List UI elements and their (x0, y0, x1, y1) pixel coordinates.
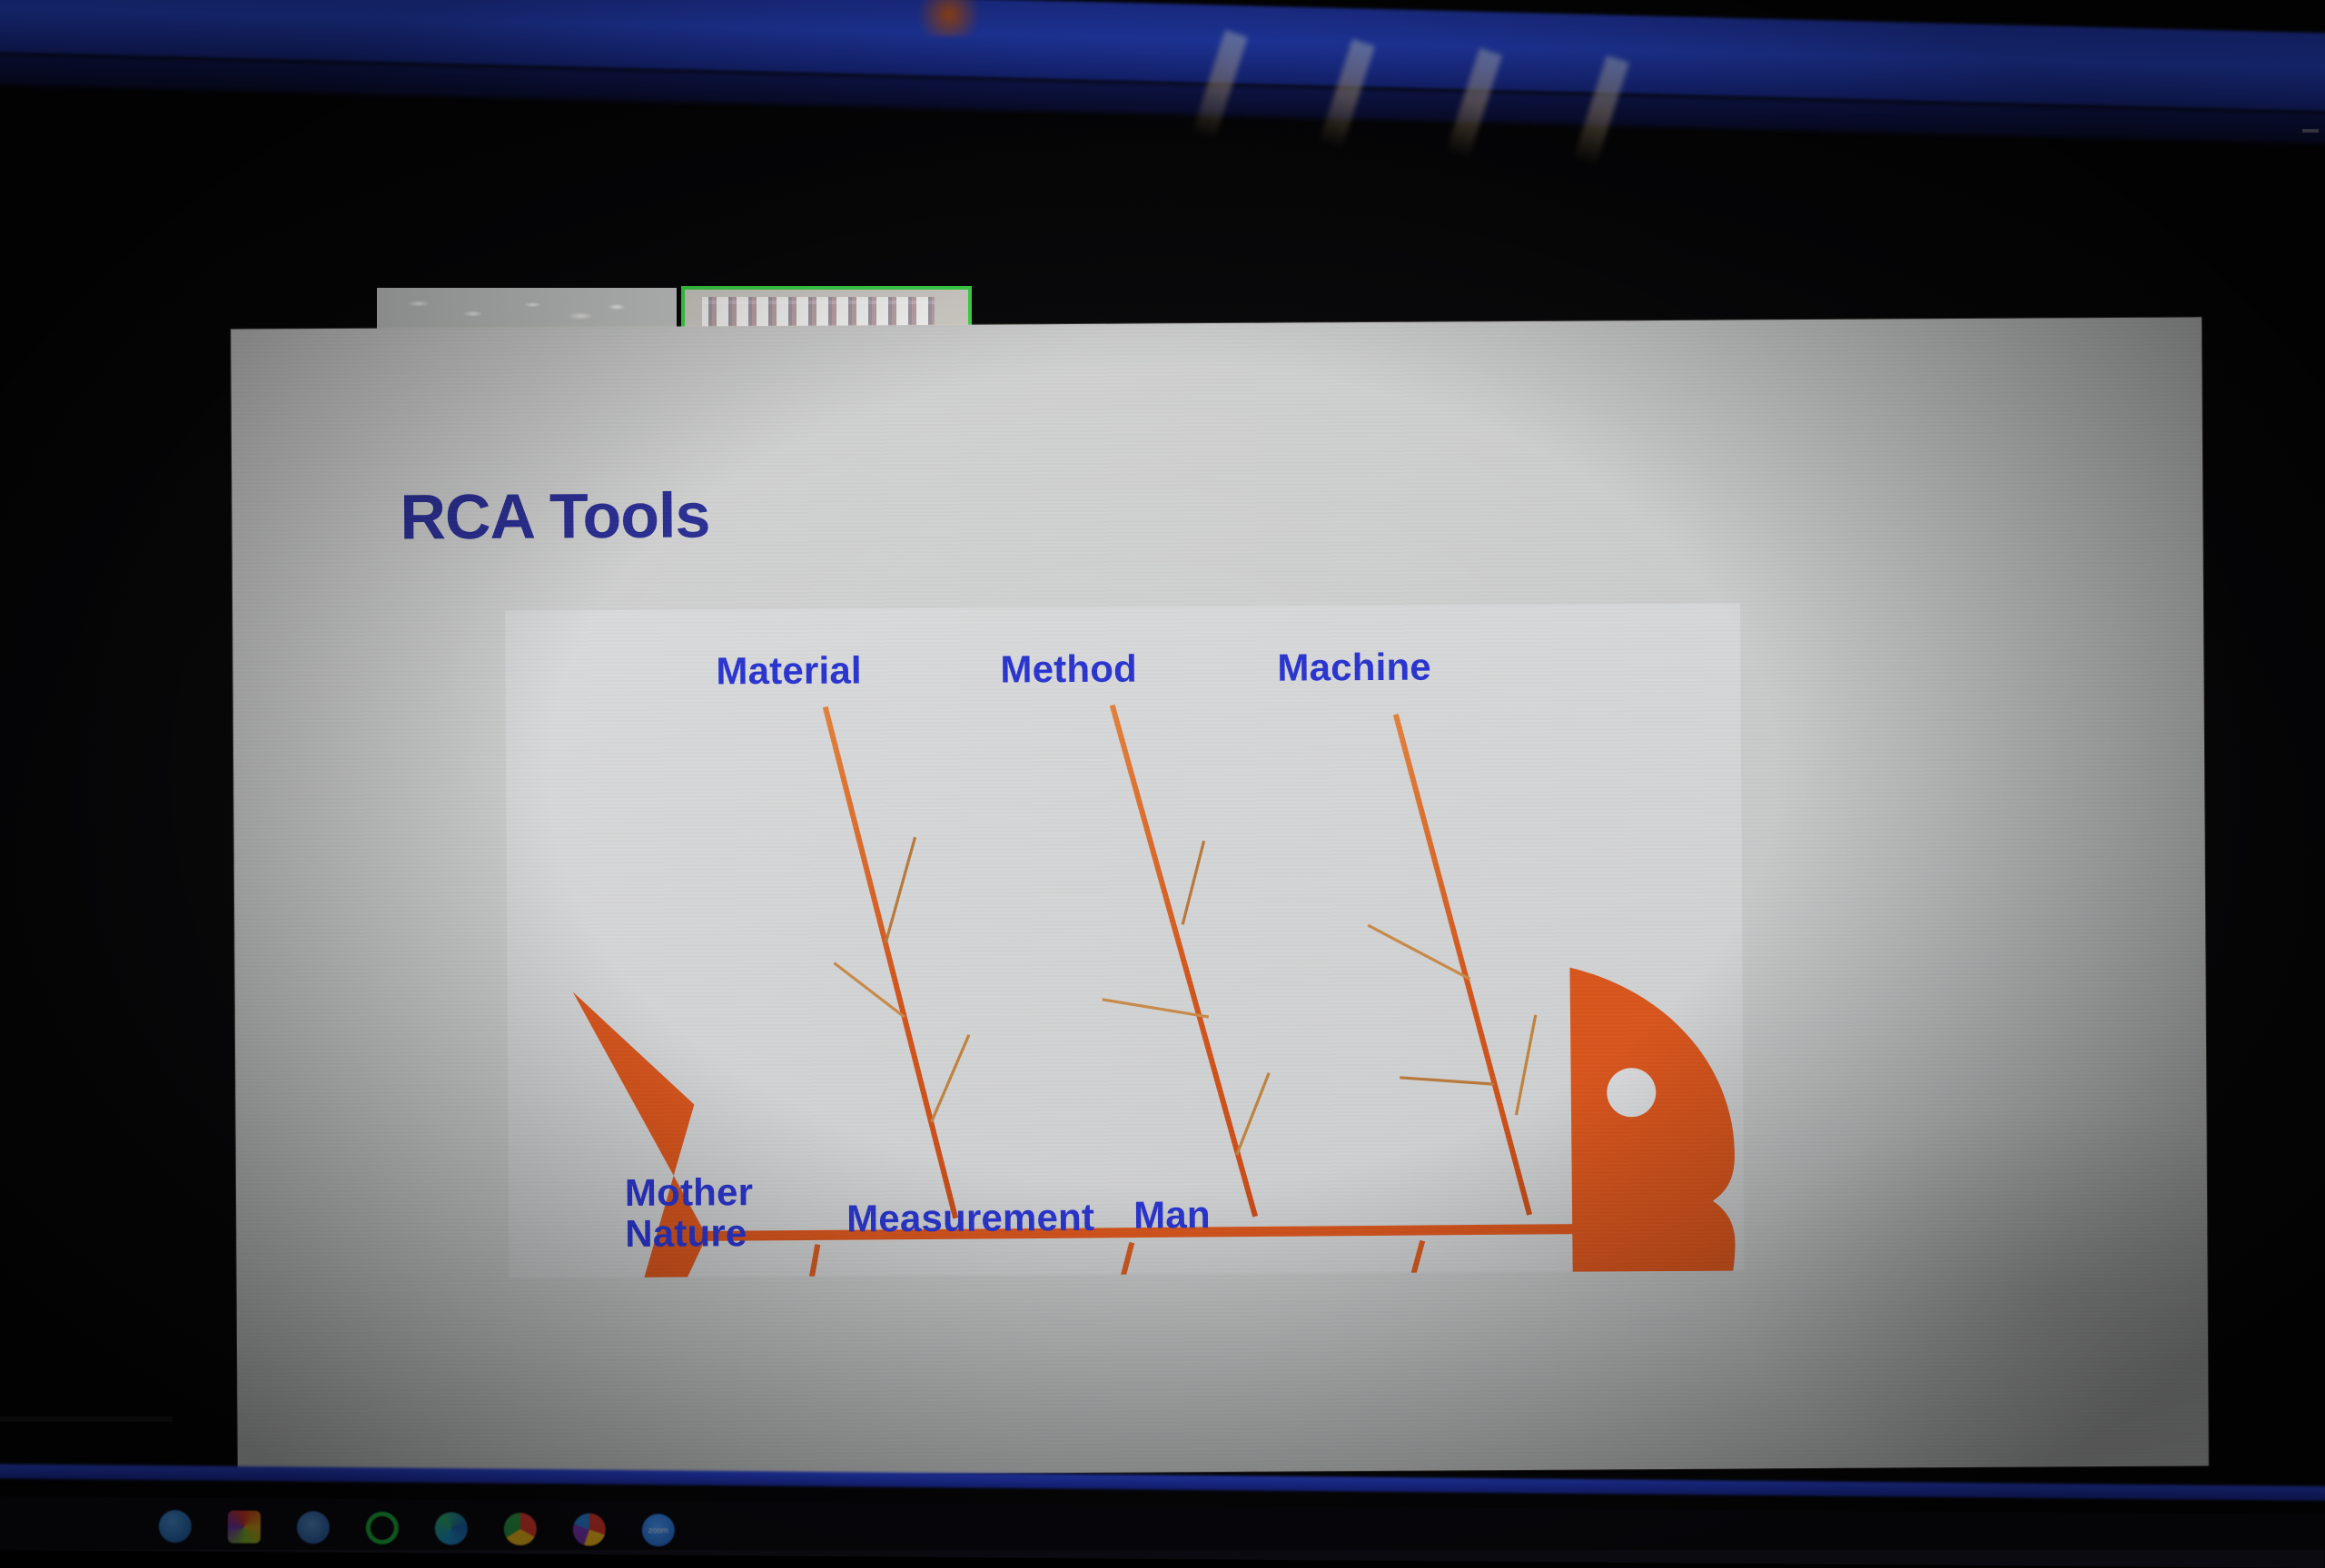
bone-machine-sub-3 (1516, 1015, 1537, 1115)
fish-head (1569, 967, 1736, 1278)
zoom-icon[interactable]: zoom (642, 1514, 675, 1546)
bone-material (826, 706, 955, 1219)
presentation-slide[interactable]: RCA Tools (231, 317, 2209, 1477)
zoom-participant-strip[interactable]: Omar Fawzi Dr. Rami Al-Hadeethi Ibrahem … (0, 136, 2325, 336)
fish-eye (1607, 1068, 1656, 1117)
bone-method-sub-2 (1182, 841, 1205, 924)
bone-measurement (1014, 1243, 1134, 1278)
fishbone-label-man: Man (1133, 1195, 1211, 1236)
edge-icon[interactable] (435, 1512, 468, 1544)
bone-material-sub-2 (885, 837, 916, 942)
chrome-profile-icon[interactable] (573, 1514, 606, 1546)
app-icon-paint[interactable] (228, 1511, 261, 1543)
fishbone-diagram-container: Material Method Machine Mother Nature Me… (505, 603, 1744, 1277)
bone-machine-sub-2 (1400, 1077, 1494, 1085)
chrome-icon[interactable] (504, 1513, 537, 1545)
bone-machine (1396, 714, 1529, 1216)
bone-method-sub-3 (1236, 1073, 1270, 1155)
page-title: RCA Tools (400, 478, 709, 553)
bone-man (1301, 1241, 1425, 1278)
fishbone-label-machine: Machine (1277, 647, 1431, 689)
bone-method (1113, 705, 1255, 1218)
lens-flare (917, 0, 981, 36)
projection-screen-wall: Omar Fawzi Dr. Rami Al-Hadeethi Ibrahem … (0, 0, 2325, 1550)
bone-material-sub-3 (931, 1035, 970, 1122)
app-icon-green-ring[interactable] (366, 1512, 399, 1544)
fishbone-label-measurement: Measurement (846, 1198, 1094, 1239)
fishbone-label-mother-nature: Mother Nature (625, 1172, 754, 1254)
taskbar-icon-row[interactable]: zoom (159, 1510, 675, 1546)
fishbone-label-method: Method (1000, 649, 1137, 690)
fishbone-label-material: Material (716, 650, 862, 691)
screen-corner-marker (2302, 129, 2319, 133)
app-icon-photoshop[interactable] (297, 1511, 330, 1543)
